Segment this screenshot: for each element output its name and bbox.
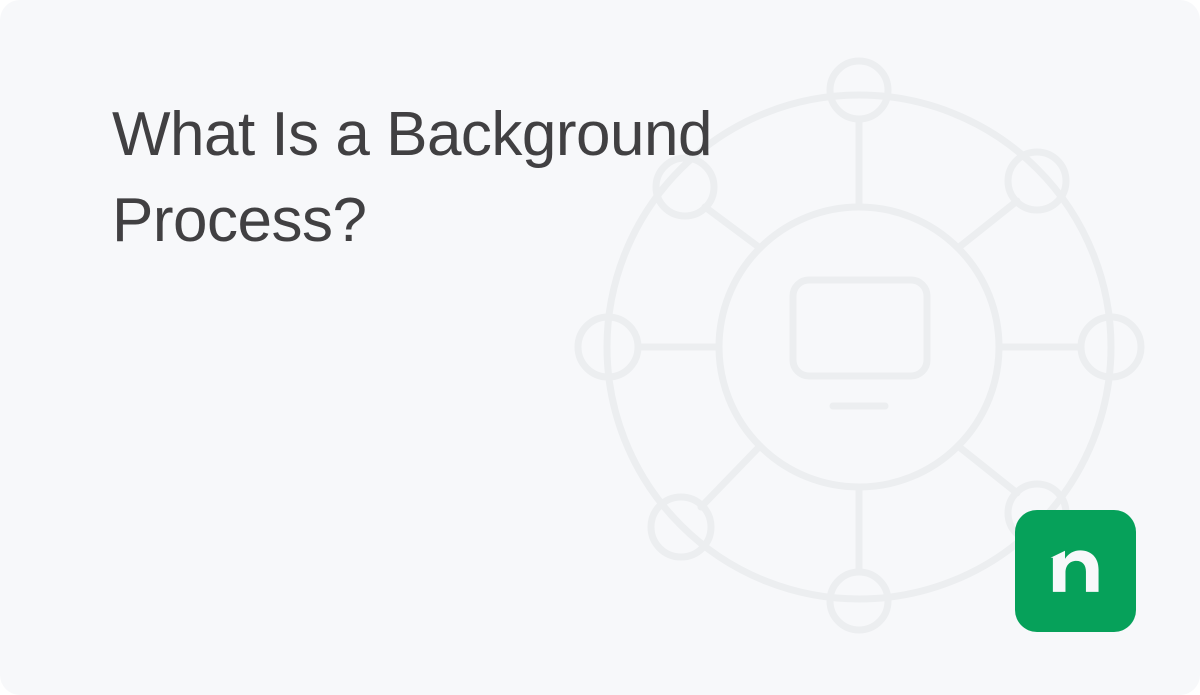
node-bottom-left xyxy=(651,497,711,557)
node-top-right xyxy=(1008,152,1066,210)
spoke-top-right xyxy=(958,201,1017,248)
node-right xyxy=(1081,317,1141,377)
node-left xyxy=(578,317,638,377)
spoke-bottom-right xyxy=(958,446,1017,493)
node-bottom xyxy=(830,572,888,630)
page-title: What Is a Background Process? xyxy=(112,92,932,264)
spoke-bottom-left xyxy=(701,446,760,507)
logo-letter-n-icon xyxy=(1015,510,1136,632)
monitor-icon xyxy=(793,280,927,376)
hero-card: What Is a Background Process? xyxy=(0,0,1200,695)
ninjaone-logo[interactable] xyxy=(1015,510,1136,632)
